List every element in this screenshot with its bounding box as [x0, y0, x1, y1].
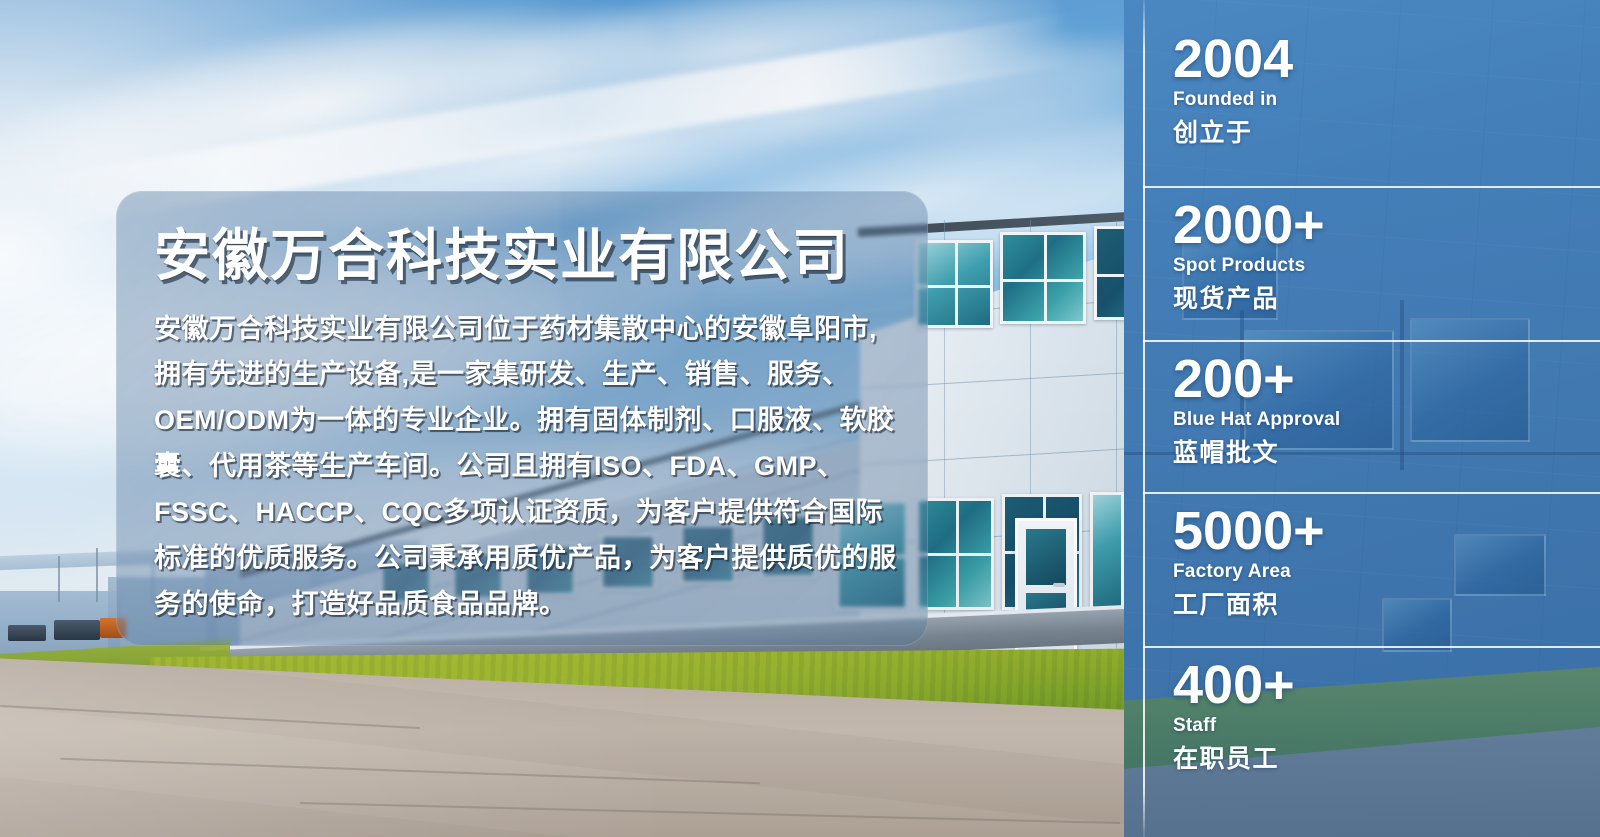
stat-label-en: Spot Products: [1173, 255, 1600, 277]
stat-label-cn: 工厂面积: [1173, 585, 1600, 621]
building-window: [1000, 232, 1086, 324]
stat-label-cn: 在职员工: [1173, 739, 1600, 775]
company-title: 安徽万合科技实业有限公司: [154, 225, 886, 287]
hero-banner: 安徽万合科技实业有限公司 安徽万合科技实业有限公司位于药材集散中心的安徽阜阳市,…: [0, 0, 1600, 837]
light-pole: [58, 556, 60, 602]
stat-item-blue-hat-approval: 200+ Blue Hat Approval 蓝帽批文: [1143, 340, 1600, 488]
company-description: 安徽万合科技实业有限公司位于药材集散中心的安徽阜阳市,拥有先进的生产设备,是一家…: [154, 307, 899, 628]
stat-item-staff: 400+ Staff 在职员工: [1143, 646, 1600, 796]
company-stats-panel: 2004 Founded in 创立于 2000+ Spot Products …: [1124, 0, 1600, 837]
company-info-panel: 安徽万合科技实业有限公司 安徽万合科技实业有限公司位于药材集散中心的安徽阜阳市,…: [116, 191, 928, 646]
parked-vehicle: [8, 625, 46, 641]
stat-label-en: Staff: [1173, 715, 1600, 737]
stat-label-cn: 现货产品: [1173, 279, 1600, 315]
stat-value: 2004: [1173, 32, 1600, 87]
stats-list: 2004 Founded in 创立于 2000+ Spot Products …: [1124, 0, 1600, 837]
stat-item-factory-area: 5000+ Factory Area 工厂面积: [1143, 492, 1600, 642]
stat-value: 2000+: [1173, 198, 1600, 253]
parked-vehicle: [54, 620, 100, 640]
stat-item-founded-in: 2004 Founded in 创立于: [1143, 32, 1600, 184]
stat-value: 400+: [1173, 658, 1600, 713]
building-window: [1090, 492, 1124, 610]
stat-item-spot-products: 2000+ Spot Products 现货产品: [1143, 186, 1600, 336]
stat-label-en: Factory Area: [1173, 561, 1600, 583]
door-handle: [1053, 583, 1065, 587]
stat-label-en: Blue Hat Approval: [1173, 409, 1600, 431]
stat-label-en: Founded in: [1173, 89, 1600, 111]
light-pole: [96, 548, 98, 602]
stat-value: 200+: [1173, 352, 1600, 407]
stat-value: 5000+: [1173, 504, 1600, 559]
stat-label-cn: 蓝帽批文: [1173, 433, 1600, 469]
stat-label-cn: 创立于: [1173, 113, 1600, 149]
